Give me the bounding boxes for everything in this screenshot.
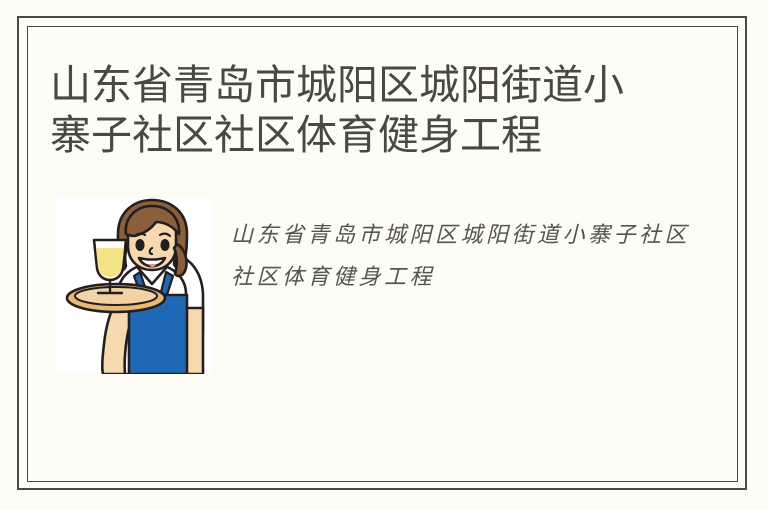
page-root: 山东省青岛市城阳区城阳街道小寨子社区社区体育健身工程 bbox=[0, 0, 768, 510]
page-title: 山东省青岛市城阳区城阳街道小寨子社区社区体育健身工程 bbox=[50, 60, 650, 160]
waitress-with-tray-icon bbox=[56, 198, 211, 374]
handwritten-caption: 山东省青岛市城阳区城阳街道小寨子社区社区体育健身工程 bbox=[231, 214, 691, 298]
content-row: 山东省青岛市城阳区城阳街道小寨子社区社区体育健身工程 bbox=[56, 198, 696, 378]
